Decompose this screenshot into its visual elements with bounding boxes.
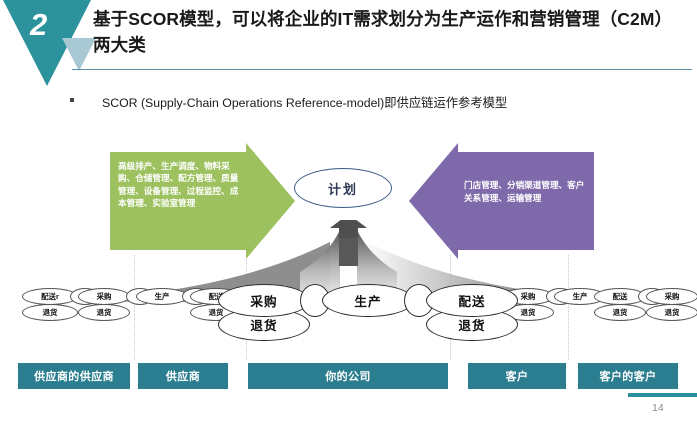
slide-canvas: 2 基于SCOR模型，可以将企业的IT需求划分为生产运作和营销管理（C2M）两大… [0, 0, 697, 427]
process-node-2: 采购 [78, 288, 130, 305]
role-bar-3: 客户 [468, 363, 566, 389]
process-node-7: 采购 [218, 284, 310, 317]
process-node-4: 生产 [136, 288, 188, 305]
page-title: 基于SCOR模型，可以将企业的IT需求划分为生产运作和营销管理（C2M）两大类 [93, 6, 678, 58]
plan-node: 计划 [294, 168, 392, 208]
role-bar-4: 客户的客户 [578, 363, 678, 389]
return-node-0: 退货 [22, 304, 78, 321]
marketing-management-label: 门店管理、分销渠道管理、客户关系管理、运输管理 [464, 179, 590, 204]
header-divider [72, 69, 692, 70]
role-bar-1: 供应商 [138, 363, 228, 389]
process-node-9: 生产 [322, 284, 414, 317]
bullet-text: SCOR (Supply-Chain Operations Reference-… [102, 93, 507, 111]
footer-accent-bar [628, 393, 697, 397]
role-bar-2: 你的公司 [248, 363, 448, 389]
process-node-17: 采购 [646, 288, 697, 305]
page-number: 14 [652, 402, 664, 414]
slide-header: 2 基于SCOR模型，可以将企业的IT需求划分为生产运作和营销管理（C2M）两大… [0, 0, 697, 80]
return-node-17: 退货 [646, 304, 697, 321]
scor-diagram: 高级排产、生产调度、物料采购、仓储管理、配方管理、质量管理、设备管理、过程监控、… [0, 130, 697, 400]
bullet-row: SCOR (Supply-Chain Operations Reference-… [70, 93, 670, 113]
scor-process-chain: 配送r退货采购退货生产配送退货采购退货生产配送退货采购退货生产配送退货采购退货 [0, 282, 697, 347]
accent-triangle-icon [62, 38, 96, 71]
process-node-11: 配送 [426, 284, 518, 317]
bullet-dot-icon [70, 98, 74, 102]
return-node-2: 退货 [78, 304, 130, 321]
supply-chain-role-bars: 供应商的供应商供应商你的公司客户客户的客户 [0, 363, 697, 391]
return-node-15: 退货 [594, 304, 646, 321]
role-bar-0: 供应商的供应商 [18, 363, 130, 389]
production-operations-label: 高级排产、生产调度、物料采购、仓储管理、配方管理、质量管理、设备管理、过程监控、… [118, 160, 240, 210]
